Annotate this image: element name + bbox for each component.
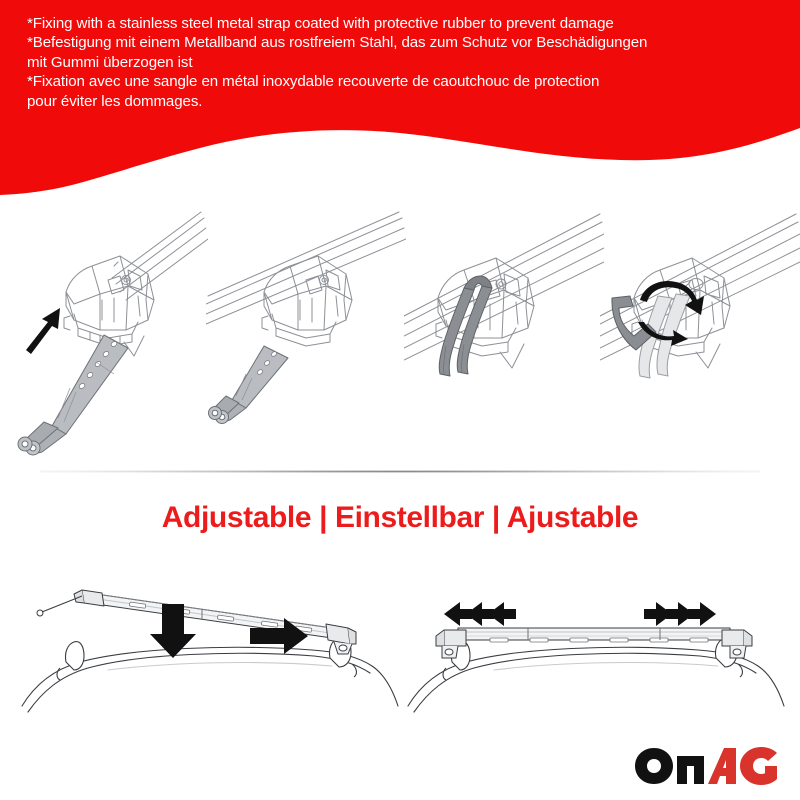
step-3-illustration bbox=[404, 196, 604, 466]
vehicle-left-illustration bbox=[12, 566, 407, 731]
step-4-illustration bbox=[600, 196, 800, 466]
vehicle-right-illustration bbox=[398, 566, 793, 731]
step-1-illustration bbox=[8, 196, 208, 466]
header-feature-text: *Fixing with a stainless steel metal str… bbox=[27, 14, 783, 111]
cross-bar-lowering-diagram bbox=[12, 566, 407, 731]
metal-strap-part bbox=[18, 335, 128, 455]
step-3-strap-wrapped bbox=[404, 196, 604, 466]
triple-left-arrow-icon bbox=[444, 602, 516, 626]
logo-letter-c bbox=[740, 747, 777, 785]
step-2-illustration bbox=[206, 196, 406, 466]
logo-letter-o bbox=[635, 748, 673, 784]
logo-letter-m bbox=[677, 756, 704, 784]
triple-right-arrow-icon bbox=[644, 602, 716, 626]
installation-steps-row bbox=[0, 196, 800, 466]
omac-logo bbox=[632, 740, 782, 788]
adjustable-headline: Adjustable | Einstellbar | Ajustable bbox=[0, 500, 800, 536]
header-banner: *Fixing with a stainless steel metal str… bbox=[0, 0, 800, 200]
step-1-insert-strap bbox=[8, 196, 208, 466]
up-arrow-icon bbox=[26, 308, 60, 354]
infographic-page: *Fixing with a stainless steel metal str… bbox=[0, 0, 800, 800]
cross-bar-width-adjust-diagram bbox=[398, 566, 793, 731]
metal-strap-part bbox=[209, 346, 289, 424]
omac-logo-mark bbox=[632, 740, 782, 788]
section-divider bbox=[40, 470, 760, 473]
step-2-strap-under-rail bbox=[206, 196, 406, 466]
vehicle-diagrams-row bbox=[0, 566, 800, 731]
logo-letter-a bbox=[708, 748, 736, 784]
step-4-tighten-allen-key bbox=[600, 196, 800, 466]
